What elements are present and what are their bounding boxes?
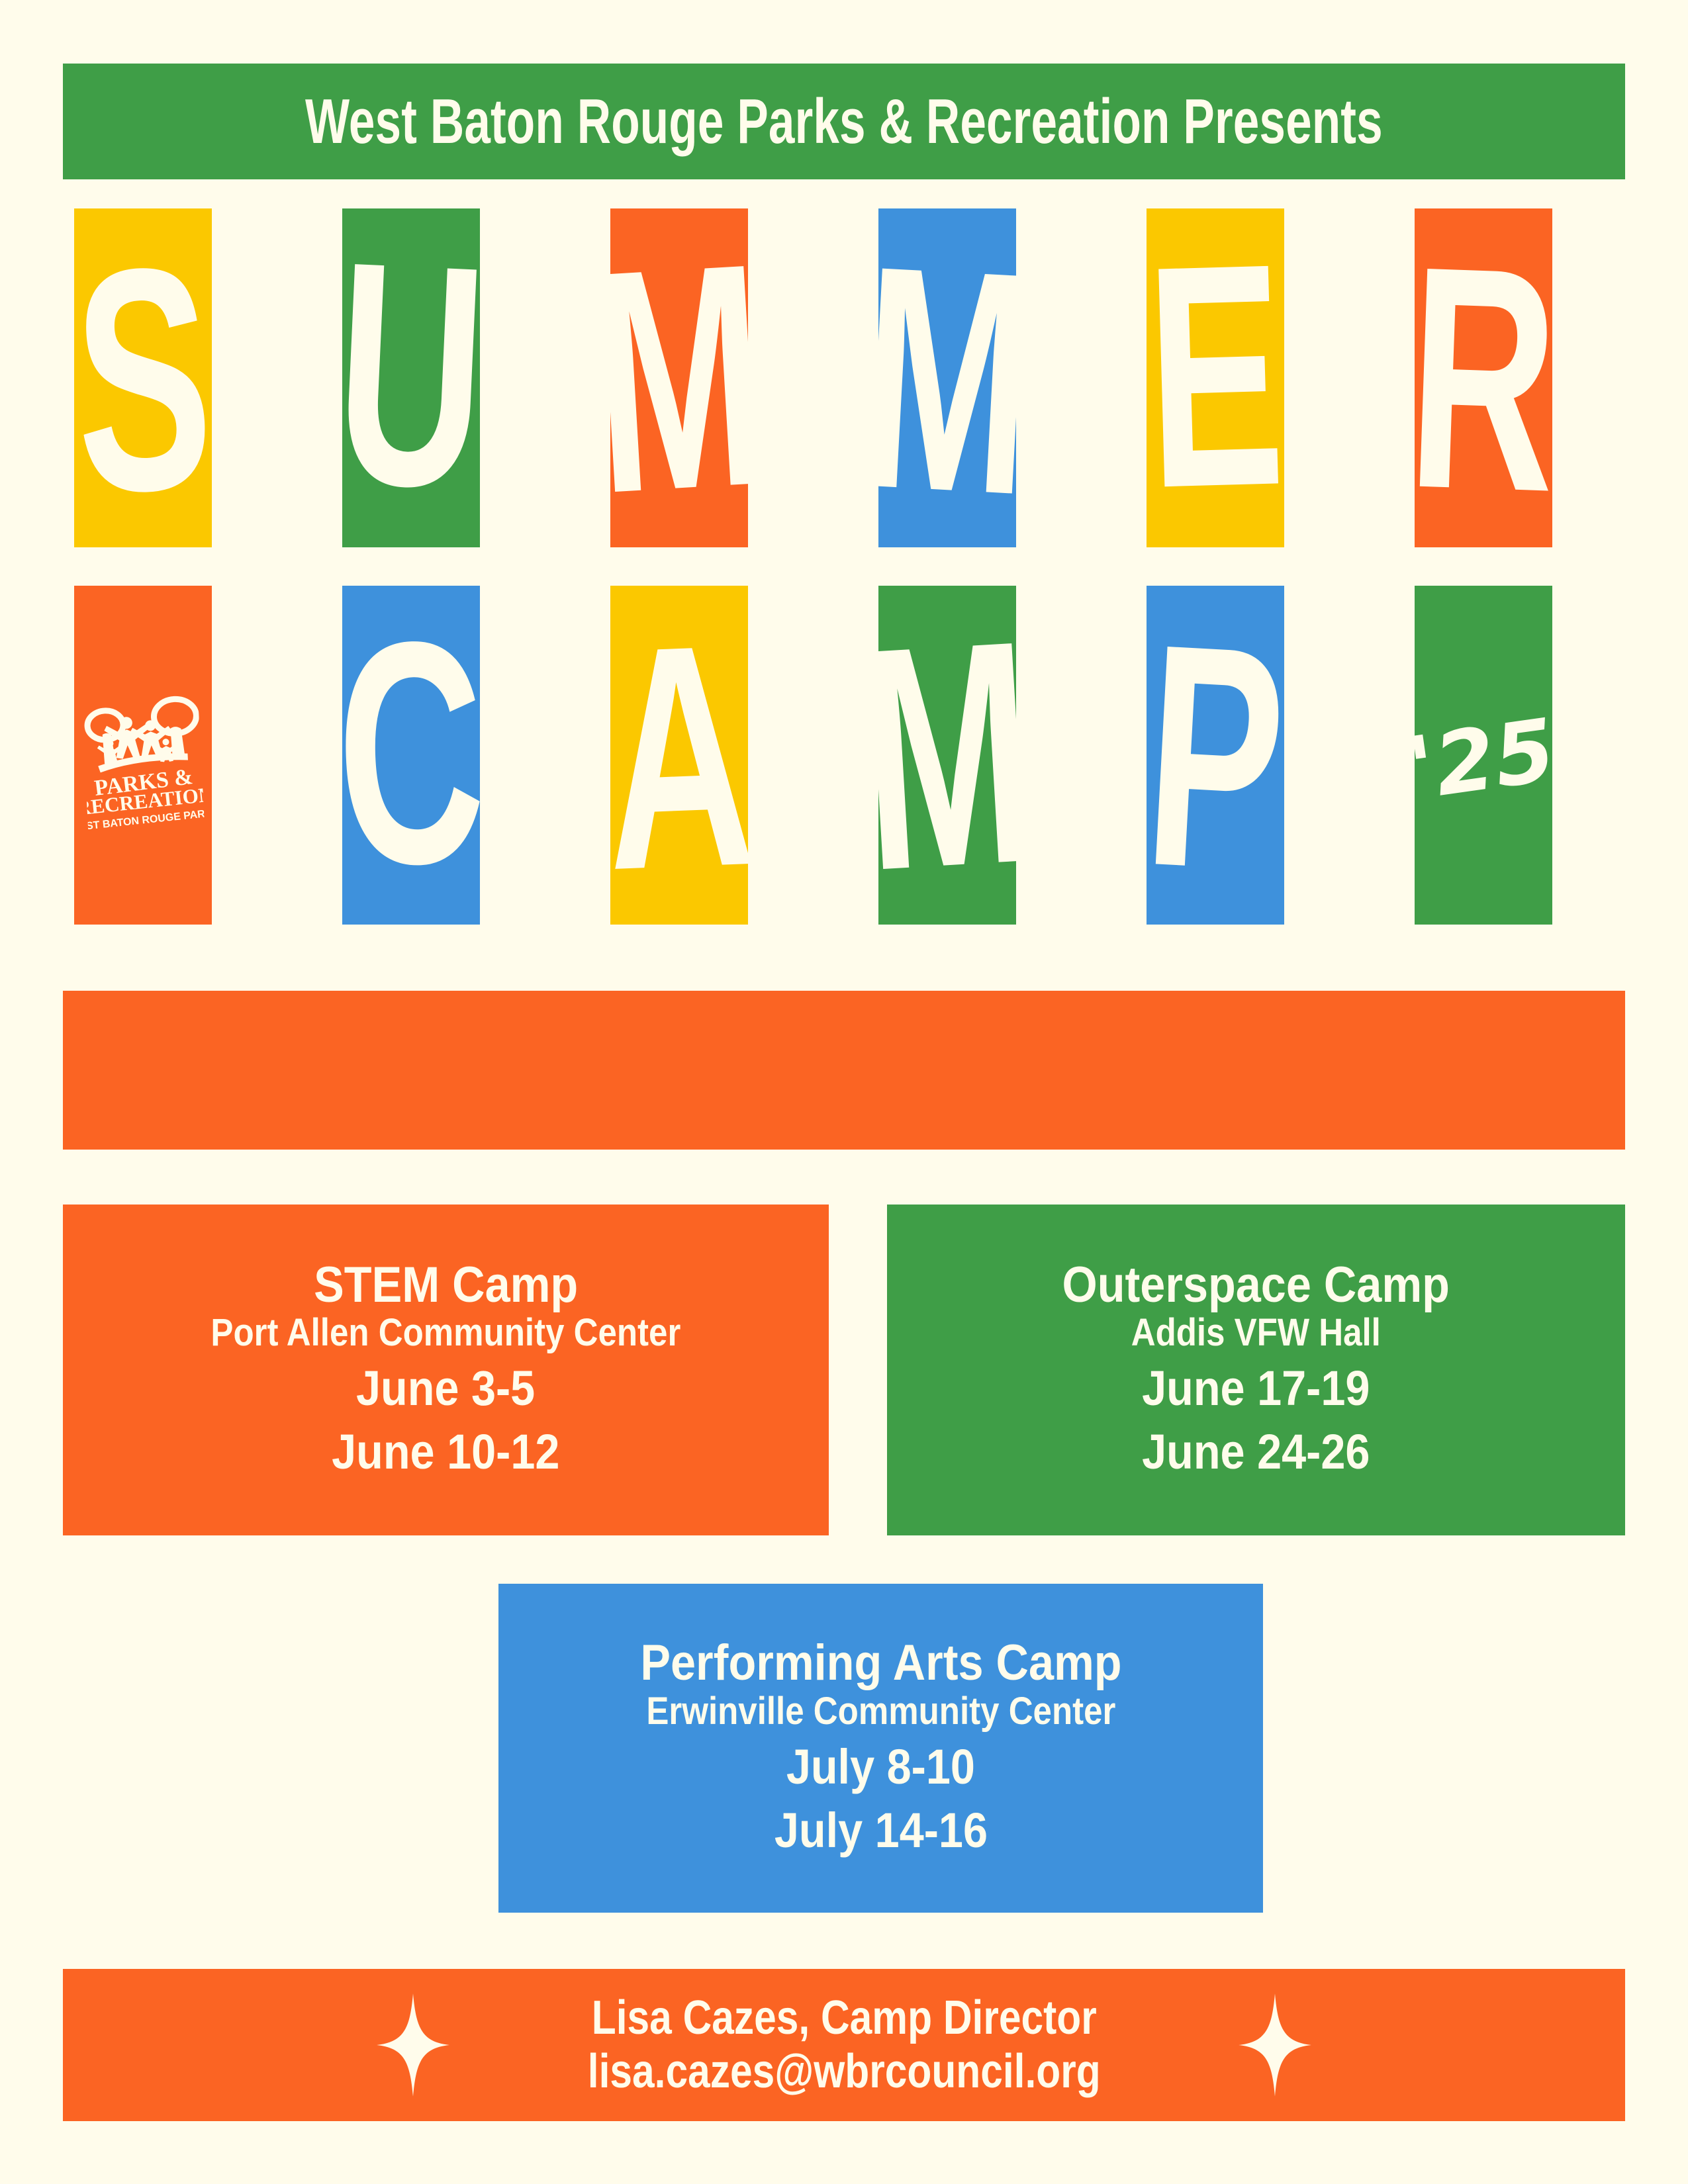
camp-title-performing-arts: Performing Arts Camp: [640, 1637, 1121, 1689]
title-letter-p: P: [1147, 625, 1284, 891]
parks-and-recreation-logo-icon: PARKS & RECREATION WEST BATON ROUGE PARI…: [81, 686, 205, 838]
title-letter-r: R: [1415, 248, 1552, 512]
title-letter-block-r: R: [1415, 208, 1552, 547]
title-row-camp: PARKS & RECREATION WEST BATON ROUGE PARI…: [0, 586, 1688, 925]
title-letter-block-m1: M: [610, 208, 748, 547]
title-letter-m1: M: [610, 245, 748, 514]
camp-date-stem-2: June 10-12: [332, 1424, 559, 1480]
camp-location-stem: Port Allen Community Center: [211, 1313, 681, 1353]
title-letter-a: A: [610, 625, 748, 890]
orange-banner-band: [63, 991, 1625, 1150]
title-letter-block-p: P: [1147, 586, 1284, 925]
footer-contact-email[interactable]: lisa.cazes@wbrcouncil.org: [588, 2045, 1101, 2099]
title-letter-u: U: [342, 243, 480, 509]
camp-location-performing-arts: Erwinville Community Center: [646, 1692, 1115, 1732]
camp-date-outerspace-1: June 17-19: [1142, 1360, 1370, 1417]
presents-header-bar: West Baton Rouge Parks & Recreation Pres…: [63, 64, 1625, 179]
title-letter-c: C: [342, 622, 480, 886]
flyer-page: West Baton Rouge Parks & Recreation Pres…: [0, 0, 1688, 2184]
title-letter-block-c: C: [342, 586, 480, 925]
footer-contact-bar: Lisa Cazes, Camp Director lisa.cazes@wbr…: [63, 1969, 1625, 2121]
camp-title-stem: STEM Camp: [314, 1259, 578, 1311]
camp-card-stem[interactable]: STEM Camp Port Allen Community Center Ju…: [63, 1205, 829, 1535]
camp-date-performing-arts-1: July 8-10: [786, 1739, 975, 1796]
title-letter-m3: M: [878, 622, 1016, 891]
title-letter-s: S: [74, 248, 212, 512]
title-letter-m2: M: [878, 247, 1016, 515]
title-letter-block-m3: M: [878, 586, 1016, 925]
footer-contact-text: Lisa Cazes, Camp Director lisa.cazes@wbr…: [539, 1991, 1150, 2098]
title-year-text: '25: [1403, 707, 1560, 812]
parks-and-recreation-logo-block: PARKS & RECREATION WEST BATON ROUGE PARI…: [74, 586, 212, 925]
sparkle-star-icon-left: [373, 1992, 453, 2098]
title-letter-e: E: [1147, 245, 1284, 508]
camp-title-outerspace: Outerspace Camp: [1062, 1259, 1450, 1311]
camp-date-performing-arts-2: July 14-16: [774, 1802, 987, 1859]
title-letter-block-u: U: [342, 208, 480, 547]
camp-location-outerspace: Addis VFW Hall: [1131, 1313, 1381, 1353]
sparkle-star-icon-right: [1235, 1992, 1315, 2098]
title-letter-block-e: E: [1147, 208, 1284, 547]
title-row-summer: S U M M E R: [0, 208, 1688, 547]
footer-contact-name: Lisa Cazes, Camp Director: [588, 1991, 1101, 2045]
title-year-block: '25: [1415, 586, 1552, 925]
camp-date-outerspace-2: June 24-26: [1142, 1424, 1370, 1480]
camp-card-outerspace[interactable]: Outerspace Camp Addis VFW Hall June 17-1…: [887, 1205, 1625, 1535]
camp-date-stem-1: June 3-5: [356, 1360, 535, 1417]
camp-card-performing-arts[interactable]: Performing Arts Camp Erwinville Communit…: [498, 1584, 1263, 1913]
title-letter-block-s: S: [74, 208, 212, 547]
title-letter-block-a: A: [610, 586, 748, 925]
title-letter-block-m2: M: [878, 208, 1016, 547]
presents-header-text: West Baton Rouge Parks & Recreation Pres…: [305, 90, 1383, 154]
